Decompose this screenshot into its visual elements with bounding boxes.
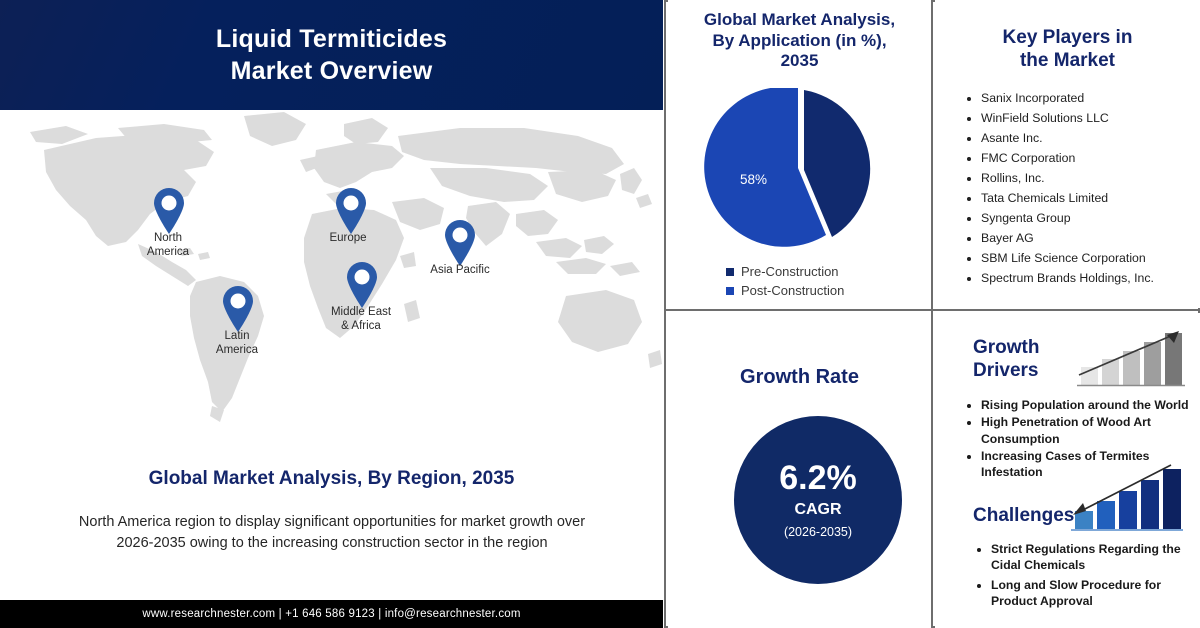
list-item: Syngenta Group bbox=[981, 208, 1197, 228]
pie-title-line2: By Application (in %), bbox=[682, 31, 917, 52]
location-pin-icon bbox=[334, 188, 368, 234]
map-caption: Global Market Analysis, By Region, 2035 bbox=[0, 468, 663, 490]
left-column: Liquid Termiticides Market Overview bbox=[0, 0, 663, 628]
map-pin-asia-pacific[interactable] bbox=[443, 220, 477, 266]
map-subtext: North America region to display signific… bbox=[62, 512, 602, 555]
pie-title-line1: Global Market Analysis, bbox=[682, 10, 917, 31]
map-pin-middle-east-africa[interactable] bbox=[345, 262, 379, 308]
ascending-bars-blue-icon bbox=[1063, 461, 1185, 538]
pie-title-line3: 2035 bbox=[682, 51, 917, 72]
list-item: Asante Inc. bbox=[981, 128, 1197, 148]
growth-rate-unit: CAGR bbox=[794, 501, 841, 519]
pie-legend: Pre-Construction Post-Construction bbox=[726, 264, 931, 302]
page-title-line2: Market Overview bbox=[216, 55, 447, 87]
list-item: Sanix Incorporated bbox=[981, 88, 1197, 108]
infographic-root: Liquid Termiticides Market Overview bbox=[0, 0, 1200, 628]
list-item: Strict Regulations Regarding the Cidal C… bbox=[991, 541, 1195, 574]
growth-rate-value: 6.2% bbox=[779, 461, 857, 497]
footer-bar: www.researchnester.com | +1 646 586 9123… bbox=[0, 600, 663, 628]
drivers-challenges-panel: Growth Drivers Rising Population around … bbox=[935, 313, 1200, 628]
map-pin-latin-america[interactable] bbox=[221, 286, 255, 332]
location-pin-icon bbox=[443, 220, 477, 266]
list-item: FMC Corporation bbox=[981, 148, 1197, 168]
header-banner: Liquid Termiticides Market Overview bbox=[0, 0, 663, 110]
legend-swatch-icon bbox=[726, 268, 734, 276]
location-pin-icon bbox=[345, 262, 379, 308]
list-item: High Penetration of Wood Art Consumption bbox=[981, 414, 1192, 447]
key-players-panel: Key Players in the Market Sanix Incorpor… bbox=[935, 0, 1200, 308]
divider-vertical-mid bbox=[931, 0, 933, 628]
key-players-title-line2: the Market bbox=[949, 49, 1186, 72]
list-item: Tata Chemicals Limited bbox=[981, 188, 1197, 208]
legend-swatch-icon bbox=[726, 287, 734, 295]
page-title: Liquid Termiticides Market Overview bbox=[216, 23, 447, 87]
page-title-line1: Liquid Termiticides bbox=[216, 23, 447, 55]
key-players-title: Key Players in the Market bbox=[935, 0, 1200, 72]
growth-rate-panel: Growth Rate 6.2% CAGR (2026-2035) bbox=[668, 313, 931, 628]
challenges-list: Strict Regulations Regarding the Cidal C… bbox=[977, 541, 1195, 612]
growth-rate-badge: 6.2% CAGR (2026-2035) bbox=[734, 416, 902, 584]
growth-rate-title: Growth Rate bbox=[668, 366, 931, 389]
list-item: WinField Solutions LLC bbox=[981, 108, 1197, 128]
legend-item-post-construction[interactable]: Post-Construction bbox=[726, 283, 931, 298]
pie-panel-title: Global Market Analysis, By Application (… bbox=[668, 0, 931, 72]
pie-chart-svg bbox=[668, 88, 931, 248]
list-item: SBM Life Science Corporation bbox=[981, 248, 1197, 268]
key-players-list: Sanix Incorporated WinField Solutions LL… bbox=[965, 88, 1197, 288]
map-pin-europe[interactable] bbox=[334, 188, 368, 234]
map-pin-label-north-america: North America bbox=[113, 232, 223, 259]
location-pin-icon bbox=[152, 188, 186, 234]
list-item: Spectrum Brands Holdings, Inc. bbox=[981, 268, 1197, 288]
list-item: Rollins, Inc. bbox=[981, 168, 1197, 188]
divider-horizontal bbox=[664, 309, 1200, 311]
ascending-bars-blue-svg bbox=[1063, 461, 1185, 533]
key-players-title-line1: Key Players in bbox=[949, 26, 1186, 49]
legend-label: Post-Construction bbox=[741, 283, 844, 298]
challenges-title: Challenges bbox=[973, 505, 1074, 527]
map-pin-north-america[interactable] bbox=[152, 188, 186, 234]
divider-vertical-left bbox=[664, 0, 666, 628]
map-pin-label-latin-america: Latin America bbox=[182, 330, 292, 357]
map-pin-label-middle-east-africa: Middle East & Africa bbox=[306, 306, 416, 333]
pie-slice-label: 58% bbox=[740, 172, 767, 187]
map-pin-label-europe: Europe bbox=[293, 232, 403, 246]
legend-item-pre-construction[interactable]: Pre-Construction bbox=[726, 264, 931, 279]
pie-chart bbox=[668, 88, 931, 238]
location-pin-icon bbox=[221, 286, 255, 332]
growth-rate-period: (2026-2035) bbox=[784, 525, 852, 539]
ascending-bars-gray-svg bbox=[1075, 327, 1187, 389]
ascending-bars-gray-icon bbox=[1075, 327, 1187, 394]
world-map-svg bbox=[0, 110, 663, 460]
list-item: Long and Slow Procedure for Product Appr… bbox=[991, 577, 1195, 610]
list-item: Bayer AG bbox=[981, 228, 1197, 248]
legend-label: Pre-Construction bbox=[741, 264, 839, 279]
pie-panel: Global Market Analysis, By Application (… bbox=[668, 0, 931, 308]
map-pin-label-asia-pacific: Asia Pacific bbox=[405, 264, 515, 278]
list-item: Rising Population around the World bbox=[981, 397, 1192, 413]
world-map: North America Europe Asia Pacific bbox=[0, 110, 663, 460]
footer-contact-text[interactable]: www.researchnester.com | +1 646 586 9123… bbox=[142, 608, 520, 620]
